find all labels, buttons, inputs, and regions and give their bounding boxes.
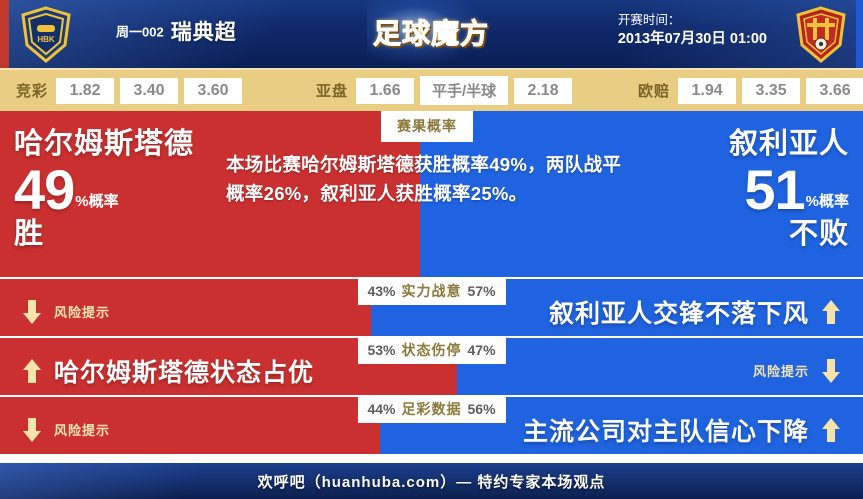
match-preview-infographic: HBK 周一002瑞典超 足球魔方 开赛时间： 2013年07月30日 01:0… (0, 0, 863, 499)
comparison-verdict-text: 哈尔姆斯塔德状态占优 (54, 353, 314, 389)
odds-group-european: 欧赔 1.94 3.35 3.66 (638, 78, 863, 104)
odds-european-home[interactable]: 1.94 (678, 78, 736, 104)
odds-group-jingcai: 竞彩 1.82 3.40 3.60 (16, 78, 248, 104)
svg-text:HBK: HBK (37, 35, 55, 44)
footer-credit: 欢呼吧（huanhuba.com）— 特约专家本场观点 (258, 471, 606, 492)
comparison-verdict-text: 风险提示 (54, 302, 110, 321)
arrow-down-icon (821, 358, 841, 384)
comparison-row-betting-data: 风险提示主流公司对主队信心下降44%足彩数据56% (0, 397, 863, 454)
comparison-home-pct: 53% (367, 342, 395, 358)
arrow-down-icon (22, 417, 42, 443)
odds-bar: 竞彩 1.82 3.40 3.60 亚盘 1.66 平手/半球 2.18 欧赔 … (0, 68, 863, 111)
header-right-accent (856, 0, 863, 68)
comparison-home-verdict: 风险提示 (22, 279, 110, 336)
odds-label-european: 欧赔 (638, 80, 670, 101)
home-team-crest-icon: HBK (18, 5, 74, 63)
away-probability-block: 叙利亚人 51%概率 不败 (729, 129, 849, 251)
odds-jingcai-draw[interactable]: 3.40 (120, 78, 178, 104)
odds-asian-away[interactable]: 2.18 (514, 78, 572, 104)
odds-asian-handicap[interactable]: 平手/半球 (420, 76, 508, 105)
away-outcome-label: 不败 (729, 219, 849, 251)
comparison-away-pct: 56% (468, 401, 496, 417)
odds-label-asian: 亚盘 (316, 80, 348, 101)
arrow-up-icon (821, 417, 841, 443)
header: HBK 周一002瑞典超 足球魔方 开赛时间： 2013年07月30日 01:0… (0, 0, 863, 68)
footer: 欢呼吧（huanhuba.com）— 特约专家本场观点 (0, 463, 863, 499)
home-team-name: 哈尔姆斯塔德 (14, 129, 194, 160)
home-probability-value: 49 (14, 158, 74, 221)
comparison-metric-label: 实力战意 (402, 283, 462, 299)
comparison-verdict-text: 风险提示 (753, 361, 809, 380)
odds-asian-home[interactable]: 1.66 (356, 78, 414, 104)
comparison-home-verdict: 哈尔姆斯塔德状态占优 (22, 338, 314, 395)
comparison-metric-chip: 43%实力战意57% (357, 278, 505, 305)
brand-text: 足球魔方 (357, 12, 505, 52)
comparison-row-strength-intent: 风险提示叙利亚人交锋不落下风43%实力战意57% (0, 279, 863, 336)
kickoff-time: 开赛时间： 2013年07月30日 01:00 (618, 11, 767, 50)
section-tab-result-probability: 赛果概率 (381, 111, 473, 142)
odds-group-asian: 亚盘 1.66 平手/半球 2.18 (316, 76, 578, 105)
comparison-row-form-injury: 哈尔姆斯塔德状态占优风险提示53%状态伤停47% (0, 338, 863, 395)
comparison-away-verdict: 风险提示 (753, 338, 841, 395)
away-probability-unit: %概率 (806, 193, 849, 210)
kickoff-label: 开赛时间： (618, 11, 767, 29)
comparison-home-pct: 44% (367, 401, 395, 417)
odds-jingcai-away[interactable]: 3.60 (184, 78, 242, 104)
comparison-bars: 风险提示叙利亚人交锋不落下风43%实力战意57%哈尔姆斯塔德状态占优风险提示53… (0, 279, 863, 454)
brand-logo: 足球魔方 (357, 4, 505, 62)
probability-summary-text: 本场比赛哈尔姆斯塔德获胜概率49%，两队战平概率26%，叙利亚人获胜概率25%。 (226, 151, 626, 208)
comparison-away-pct: 57% (468, 283, 496, 299)
arrow-up-icon (821, 299, 841, 325)
away-team-crest-icon (793, 5, 849, 63)
away-team-name: 叙利亚人 (729, 129, 849, 160)
away-probability-value: 51 (744, 158, 804, 221)
comparison-verdict-text: 风险提示 (54, 420, 110, 439)
odds-jingcai-home[interactable]: 1.82 (56, 78, 114, 104)
home-outcome-label: 胜 (14, 219, 194, 251)
comparison-home-verdict: 风险提示 (22, 397, 110, 454)
league-name: 瑞典超 (171, 21, 237, 44)
match-number: 周一002 (116, 25, 164, 40)
odds-european-draw[interactable]: 3.35 (742, 78, 800, 104)
comparison-metric-chip: 53%状态伤停47% (357, 337, 505, 364)
comparison-metric-chip: 44%足彩数据56% (357, 396, 505, 423)
home-probability-unit: %概率 (75, 193, 118, 210)
odds-european-away[interactable]: 3.66 (806, 78, 863, 104)
comparison-home-pct: 43% (367, 283, 395, 299)
header-left-accent (0, 0, 9, 68)
comparison-away-verdict: 主流公司对主队信心下降 (523, 397, 841, 454)
match-identifier: 周一002瑞典超 (116, 16, 237, 46)
arrow-down-icon (22, 299, 42, 325)
home-probability-block: 哈尔姆斯塔德 49%概率 胜 (14, 129, 194, 251)
comparison-away-verdict: 叙利亚人交锋不落下风 (549, 279, 841, 336)
kickoff-value: 2013年07月30日 01:00 (618, 29, 767, 50)
comparison-verdict-text: 叙利亚人交锋不落下风 (549, 294, 809, 330)
result-probability-panel: 赛果概率 哈尔姆斯塔德 49%概率 胜 叙利亚人 51%概率 不败 本场比赛哈尔… (0, 111, 863, 277)
comparison-metric-label: 足彩数据 (402, 401, 462, 417)
comparison-verdict-text: 主流公司对主队信心下降 (523, 412, 809, 448)
comparison-away-pct: 47% (468, 342, 496, 358)
comparison-metric-label: 状态伤停 (402, 342, 462, 358)
arrow-up-icon (22, 358, 42, 384)
odds-label-jingcai: 竞彩 (16, 80, 48, 101)
